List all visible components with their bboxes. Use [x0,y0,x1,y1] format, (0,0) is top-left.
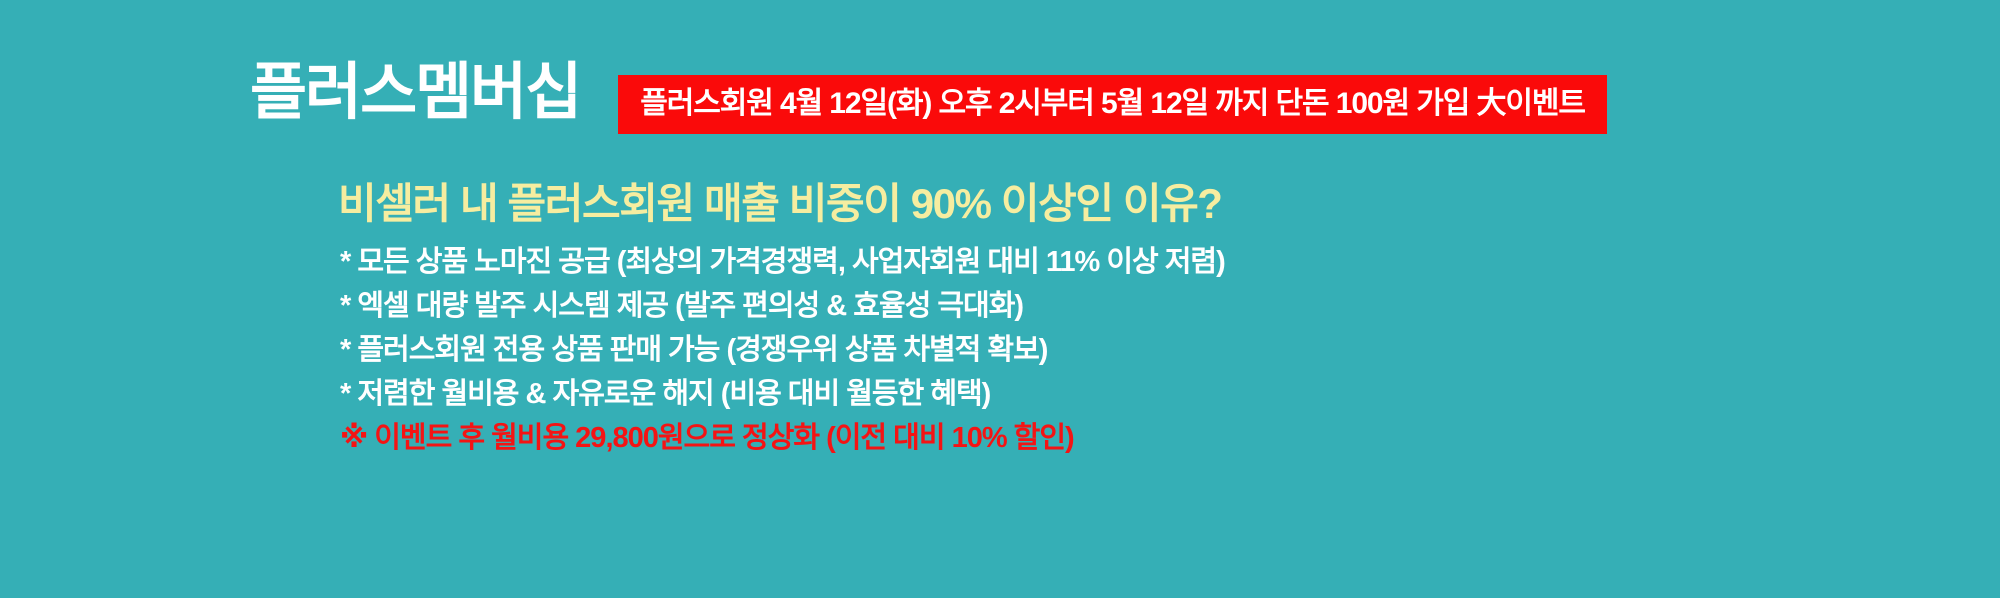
promo-banner: 플러스멤버십 플러스회원 4월 12일(화) 오후 2시부터 5월 12일 까지… [0,0,2000,598]
title-row: 플러스멤버십 플러스회원 4월 12일(화) 오후 2시부터 5월 12일 까지… [250,62,1607,134]
pricing-note: ※ 이벤트 후 월비용 29,800원으로 정상화 (이전 대비 10% 할인) [340,424,1225,453]
benefit-item: * 플러스회원 전용 상품 판매 가능 (경쟁우위 상품 차별적 확보) [340,336,1225,365]
benefit-item: * 모든 상품 노마진 공급 (최상의 가격경쟁력, 사업자회원 대비 11% … [340,248,1225,277]
benefit-list: * 모든 상품 노마진 공급 (최상의 가격경쟁력, 사업자회원 대비 11% … [340,248,1225,453]
headline: 비셀러 내 플러스회원 매출 비중이 90% 이상인 이유? [338,183,1222,225]
benefit-item: * 엑셀 대량 발주 시스템 제공 (발주 편의성 & 효율성 극대화) [340,292,1225,321]
event-ribbon: 플러스회원 4월 12일(화) 오후 2시부터 5월 12일 까지 단돈 100… [618,75,1607,134]
benefit-item: * 저렴한 월비용 & 자유로운 해지 (비용 대비 월등한 혜택) [340,380,1225,409]
brand-title: 플러스멤버십 [250,62,580,124]
